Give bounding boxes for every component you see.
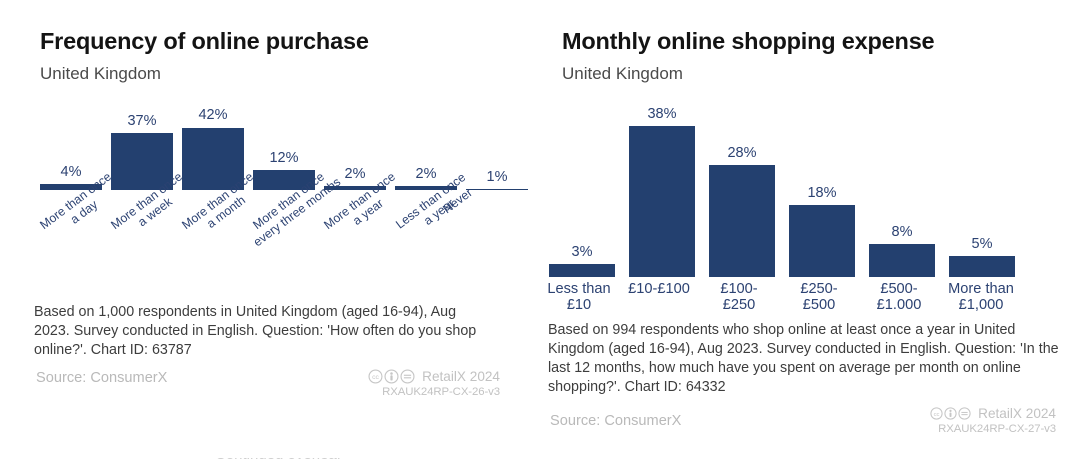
- creative-commons-icon-group: cc: [930, 407, 971, 420]
- bar-group[interactable]: 8%: [869, 98, 935, 277]
- x-tick-label: £500- £1.000: [859, 281, 939, 314]
- bar-value-label: 28%: [727, 146, 756, 161]
- bar-group[interactable]: 38%: [629, 98, 695, 277]
- tick-line: Less than: [539, 281, 619, 297]
- credit-name: RetailX 2024: [422, 369, 500, 384]
- bar-value-label: 1%: [487, 170, 508, 185]
- credit-name: RetailX 2024: [978, 406, 1056, 421]
- creative-commons-icon-group: cc: [368, 369, 415, 384]
- tick-line: £250: [699, 297, 779, 313]
- x-tick-label: More than £1,000: [935, 281, 1027, 314]
- bar-group[interactable]: 28%: [709, 98, 775, 277]
- tick-line: £10: [539, 297, 619, 313]
- bar-value-label: 18%: [807, 186, 836, 201]
- cc-by-icon: [384, 369, 399, 384]
- bar-group[interactable]: 3%: [549, 98, 615, 277]
- svg-text:cc: cc: [372, 374, 379, 381]
- source-label: Source: ConsumerX: [36, 370, 167, 386]
- bar-value-label: 12%: [269, 151, 298, 166]
- tick-line: £100-: [699, 281, 779, 297]
- clipped-bottom-text-label: Continued overleaf: [215, 458, 341, 463]
- tick-line: £500-: [859, 281, 939, 297]
- svg-text:cc: cc: [934, 412, 940, 418]
- cc-by-icon: [944, 407, 957, 420]
- source-label: Source: ConsumerX: [550, 413, 681, 429]
- tick-line: £250-: [779, 281, 859, 297]
- bar-value-label: 37%: [127, 114, 156, 129]
- chart-panel-expense: Monthly online shopping expense United K…: [536, 0, 1071, 466]
- x-tick-label: £250- £500: [779, 281, 859, 314]
- tick-line: £10-£100: [619, 281, 699, 297]
- cc-icon: cc: [930, 407, 943, 420]
- bar-rect[interactable]: [789, 205, 855, 277]
- tick-line: £1,000: [935, 297, 1027, 313]
- cc-nd-icon: [400, 369, 415, 384]
- chart-subtitle: United Kingdom: [562, 64, 683, 84]
- bar-rect[interactable]: [869, 244, 935, 277]
- x-tick-label: Less than £10: [539, 281, 619, 314]
- chart-panel-frequency: Frequency of online purchase United King…: [0, 0, 536, 466]
- credit-block: cc RetailX 2024 RXAUK24RP-CX-27-v3: [856, 406, 1056, 435]
- bar-value-label: 5%: [972, 237, 993, 252]
- page-title: Monthly online shopping expense: [562, 28, 934, 55]
- chart-footnote: Based on 994 respondents who shop online…: [548, 321, 1060, 396]
- credit-code: RXAUK24RP-CX-26-v3: [300, 386, 500, 398]
- page-title: Frequency of online purchase: [40, 28, 369, 55]
- credit-block: cc RetailX 2024 RXAUK24RP-CX-26-v3: [300, 369, 500, 398]
- credit-line: cc RetailX 2024: [856, 406, 1056, 421]
- bar-chart-expense: 3% 38% 28% 18% 8% 5%: [546, 98, 1054, 277]
- bar-rect[interactable]: [949, 256, 1015, 277]
- bar-value-label: 4%: [61, 165, 82, 180]
- cc-nd-icon: [958, 407, 971, 420]
- bar-value-label: 3%: [572, 245, 593, 260]
- report-page: Frequency of online purchase United King…: [0, 0, 1071, 466]
- cc-icon: cc: [368, 369, 383, 384]
- credit-line: cc RetailX 2024: [300, 369, 500, 384]
- bar-rect[interactable]: [549, 264, 615, 277]
- x-tick-label: £100- £250: [699, 281, 779, 314]
- tick-line: More than: [935, 281, 1027, 297]
- x-tick-label: £10-£100: [619, 281, 699, 297]
- bar-group[interactable]: 5%: [949, 98, 1015, 277]
- clipped-bottom-text: Continued overleaf: [0, 458, 1071, 466]
- bar-rect[interactable]: [709, 165, 775, 277]
- bar-value-label: 2%: [416, 167, 437, 182]
- tick-line: £500: [779, 297, 859, 313]
- bar-value-label: 38%: [647, 107, 676, 122]
- tick-line: £1.000: [859, 297, 939, 313]
- credit-code: RXAUK24RP-CX-27-v3: [856, 423, 1056, 435]
- bar-value-label: 8%: [892, 225, 913, 240]
- bar-value-label: 42%: [198, 108, 227, 123]
- chart-footnote: Based on 1,000 respondents in United Kin…: [34, 303, 492, 360]
- bar-rect[interactable]: [629, 126, 695, 277]
- chart-subtitle: United Kingdom: [40, 64, 161, 84]
- bar-group[interactable]: 18%: [789, 98, 855, 277]
